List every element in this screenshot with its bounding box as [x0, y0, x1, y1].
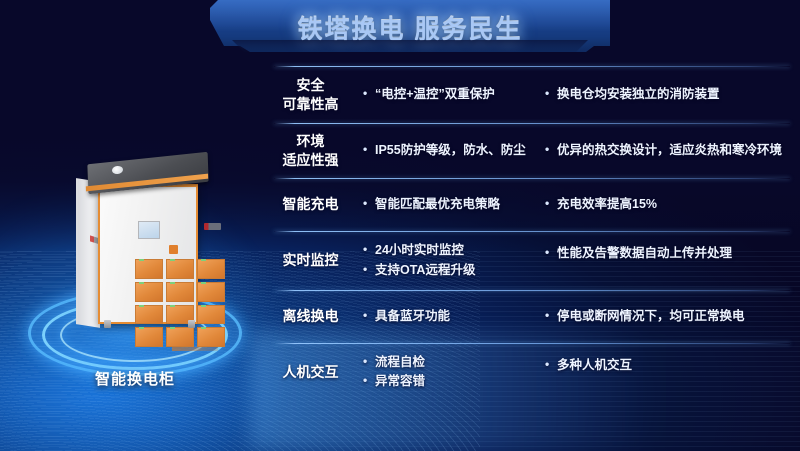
row-divider	[274, 66, 790, 67]
feature-right-column: 性能及告警数据自动上传并处理	[545, 244, 792, 263]
feature-label: 智能充电	[258, 195, 363, 214]
feature-middle-column: 24小时实时监控 支持OTA远程升级	[363, 241, 545, 280]
feature-right-column: 充电效率提高15%	[545, 195, 792, 214]
feature-right-column: 优异的热交换设计，适应炎热和寒冷环境	[545, 141, 792, 160]
locker-grid	[135, 259, 225, 347]
feature-bullet: “电控+温控”双重保护	[363, 85, 545, 104]
feature-right-column: 多种人机交互	[545, 356, 792, 375]
title-banner: 铁塔换电 服务民生	[210, 0, 610, 52]
row-divider	[274, 178, 790, 179]
locker-door	[197, 259, 225, 279]
feature-label: 安全 可靠性高	[258, 76, 363, 114]
locker-door	[197, 327, 225, 347]
feature-label-line2: 可靠性高	[258, 95, 363, 114]
feature-label: 人机交互	[258, 363, 363, 382]
table-row: 智能充电 智能匹配最优充电策略 充电效率提高15%	[258, 178, 792, 231]
locker-door	[166, 282, 194, 302]
row-divider	[274, 231, 790, 232]
feature-label: 离线换电	[258, 307, 363, 326]
cabinet-screen	[138, 221, 160, 239]
cabinet-front-panel	[98, 184, 198, 324]
cabinet-card-reader-icon	[169, 245, 178, 254]
feature-middle-column: 具备蓝牙功能	[363, 307, 545, 326]
feature-bullet: 支持OTA远程升级	[363, 261, 545, 280]
locker-door	[166, 327, 194, 347]
feature-middle-column: IP55防护等级，防水、防尘	[363, 141, 545, 160]
feature-middle-column: 流程自检 异常容错	[363, 353, 545, 392]
battery-swap-cabinet	[68, 158, 208, 333]
feature-middle-column: “电控+温控”双重保护	[363, 85, 545, 104]
locker-door	[197, 305, 225, 325]
feature-label: 实时监控	[258, 251, 363, 270]
row-divider	[274, 290, 790, 291]
table-row: 安全 可靠性高 “电控+温控”双重保护 换电仓均安装独立的消防装置	[258, 66, 792, 123]
feature-bullet: 多种人机交互	[545, 356, 792, 375]
locker-door	[197, 282, 225, 302]
feature-right-column: 停电或断网情况下，均可正常换电	[545, 307, 792, 326]
feature-label-line1: 人机交互	[258, 363, 363, 382]
table-row: 实时监控 24小时实时监控 支持OTA远程升级 性能及告警数据自动上传并处理	[258, 231, 792, 290]
cabinet-footer-text	[172, 347, 218, 351]
feature-label-line1: 安全	[258, 76, 363, 95]
cabinet-brand-logo-icon	[204, 223, 221, 230]
locker-door	[135, 305, 163, 325]
feature-bullet: 停电或断网情况下，均可正常换电	[545, 307, 792, 326]
feature-bullet: 流程自检	[363, 353, 545, 372]
feature-bullet: 具备蓝牙功能	[363, 307, 545, 326]
feature-middle-column: 智能匹配最优充电策略	[363, 195, 545, 214]
page-title: 铁塔换电 服务民生	[210, 9, 610, 45]
feature-right-column: 换电仓均安装独立的消防装置	[545, 85, 792, 104]
locker-door	[135, 259, 163, 279]
table-row: 人机交互 流程自检 异常容错 多种人机交互	[258, 343, 792, 401]
feature-bullet: 优异的热交换设计，适应炎热和寒冷环境	[545, 141, 792, 160]
row-divider	[274, 343, 790, 344]
feature-label: 环境 适应性强	[258, 132, 363, 170]
cabinet-side-panel	[76, 178, 100, 328]
feature-label-line1: 离线换电	[258, 307, 363, 326]
feature-bullet: 智能匹配最优充电策略	[363, 195, 545, 214]
feature-bullet: IP55防护等级，防水、防尘	[363, 141, 545, 160]
feature-label-line1: 实时监控	[258, 251, 363, 270]
feature-bullet: 性能及告警数据自动上传并处理	[545, 244, 792, 263]
locker-door	[135, 327, 163, 347]
feature-bullet: 充电效率提高15%	[545, 195, 792, 214]
feature-table: 安全 可靠性高 “电控+温控”双重保护 换电仓均安装独立的消防装置 环境 适应性…	[258, 66, 792, 401]
slide-canvas: 铁塔换电 服务民生	[0, 0, 800, 451]
table-row: 离线换电 具备蓝牙功能 停电或断网情况下，均可正常换电	[258, 290, 792, 343]
feature-bullet: 异常容错	[363, 372, 545, 391]
table-row: 环境 适应性强 IP55防护等级，防水、防尘 优异的热交换设计，适应炎热和寒冷环…	[258, 123, 792, 178]
feature-bullet: 换电仓均安装独立的消防装置	[545, 85, 792, 104]
feature-label-line1: 环境	[258, 132, 363, 151]
locker-door	[135, 282, 163, 302]
product-caption: 智能换电柜	[20, 368, 250, 389]
cabinet-foot	[188, 320, 195, 328]
row-divider	[274, 123, 790, 124]
feature-label-line2: 适应性强	[258, 151, 363, 170]
feature-bullet: 24小时实时监控	[363, 241, 545, 260]
cabinet-foot	[104, 320, 111, 328]
feature-label-line1: 智能充电	[258, 195, 363, 214]
product-illustration: 智能换电柜	[20, 150, 250, 410]
locker-door	[166, 259, 194, 279]
